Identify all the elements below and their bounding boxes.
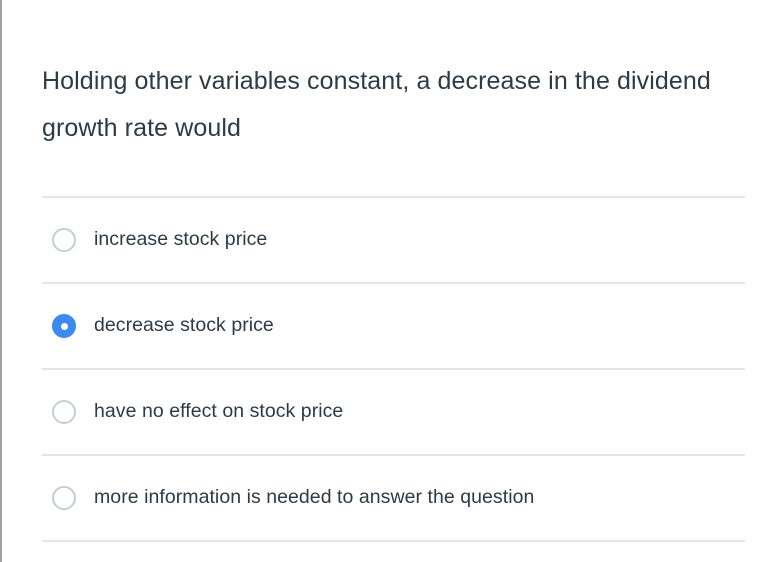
radio-button-icon[interactable] xyxy=(52,228,76,252)
answer-option-label: increase stock price xyxy=(94,228,267,251)
answer-option-label: more information is needed to answer the… xyxy=(94,486,534,509)
answer-option-1[interactable]: increase stock price xyxy=(42,196,745,282)
quiz-question-card: Holding other variables constant, a decr… xyxy=(0,0,776,562)
answer-option-3[interactable]: have no effect on stock price xyxy=(42,368,745,454)
answer-option-label: decrease stock price xyxy=(94,314,274,337)
answer-options-list: increase stock price decrease stock pric… xyxy=(42,196,745,542)
radio-button-icon[interactable] xyxy=(52,400,76,424)
question-text: Holding other variables constant, a decr… xyxy=(42,58,732,152)
answer-option-2[interactable]: decrease stock price xyxy=(42,282,745,368)
answer-option-4[interactable]: more information is needed to answer the… xyxy=(42,454,745,542)
radio-button-selected-icon[interactable] xyxy=(52,314,76,338)
radio-button-icon[interactable] xyxy=(52,486,76,510)
answer-option-label: have no effect on stock price xyxy=(94,400,343,423)
